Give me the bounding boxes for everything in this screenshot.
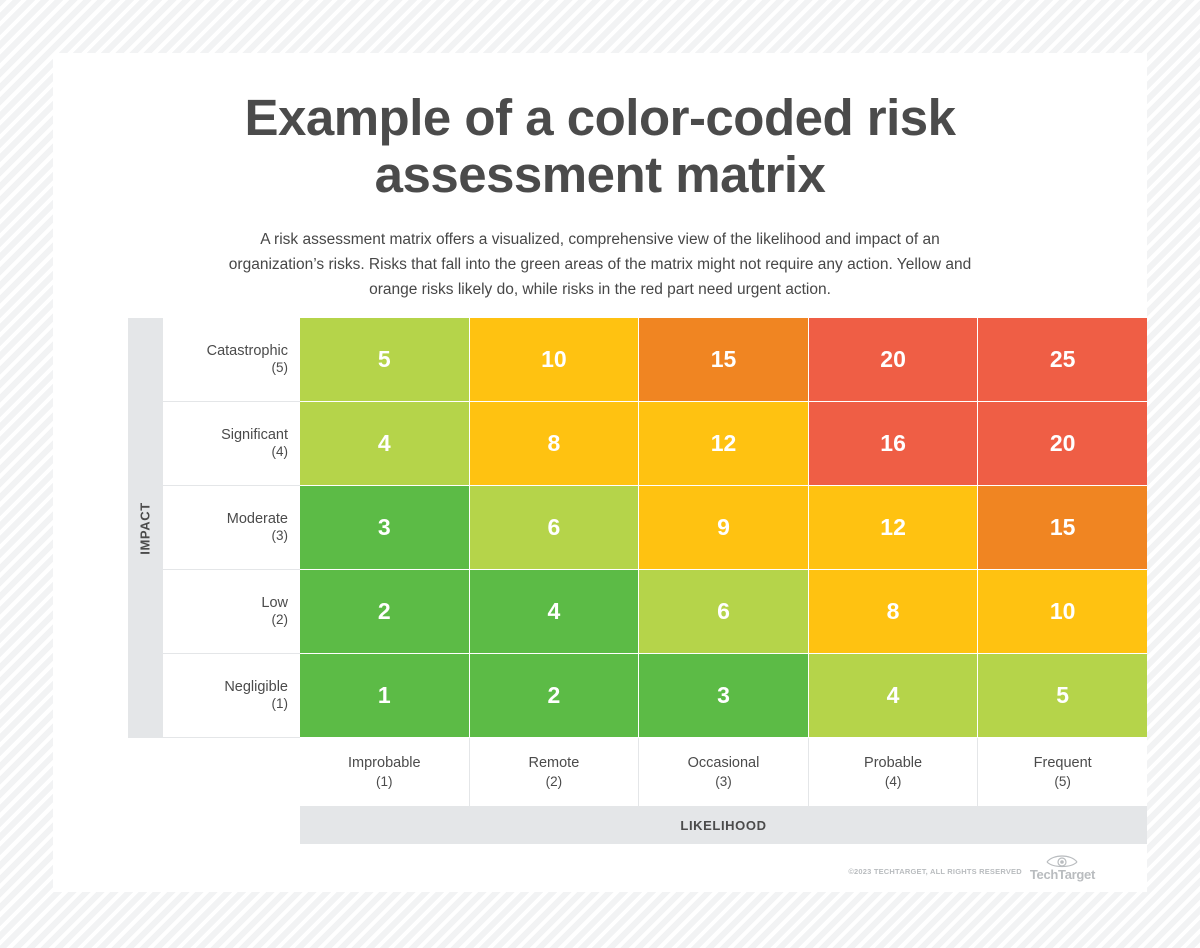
likelihood-header-row: Improbable(1)Remote(2)Occasional(3)Proba… — [128, 738, 1147, 806]
impact-axis-text: IMPACT — [138, 502, 153, 554]
risk-score-cell: 12 — [809, 486, 979, 570]
matrix-row: Moderate(3)3691215 — [163, 486, 1147, 570]
impact-level-number: (1) — [272, 696, 289, 713]
likelihood-level-name: Improbable — [348, 754, 421, 773]
impact-level-label: Significant(4) — [163, 402, 300, 486]
impact-level-name: Catastrophic — [207, 342, 288, 360]
risk-score-cell: 4 — [300, 402, 470, 486]
impact-level-number: (5) — [272, 360, 289, 377]
risk-score-cell: 20 — [809, 318, 979, 402]
risk-score-cell: 4 — [809, 654, 979, 738]
risk-score-cell: 8 — [470, 402, 640, 486]
impact-level-name: Low — [261, 594, 288, 612]
impact-level-label: Low(2) — [163, 570, 300, 654]
impact-level-name: Moderate — [227, 510, 288, 528]
risk-matrix: IMPACT Catastrophic(5)510152025Significa… — [128, 318, 1147, 844]
likelihood-level-header: Occasional(3) — [639, 738, 809, 806]
likelihood-axis-label: LIKELIHOOD — [300, 806, 1147, 844]
risk-score-cell: 20 — [978, 402, 1147, 486]
matrix-row: Negligible(1)12345 — [163, 654, 1147, 738]
likelihood-level-name: Probable — [864, 754, 922, 773]
impact-level-label: Moderate(3) — [163, 486, 300, 570]
risk-score-cell: 10 — [470, 318, 640, 402]
page-subtitle: A risk assessment matrix offers a visual… — [220, 227, 980, 302]
likelihood-level-name: Occasional — [688, 754, 760, 773]
impact-level-name: Significant — [221, 426, 288, 444]
matrix-row: Catastrophic(5)510152025 — [163, 318, 1147, 402]
risk-score-cell: 3 — [300, 486, 470, 570]
likelihood-level-header: Remote(2) — [470, 738, 640, 806]
copyright-text: ©2023 TECHTARGET, ALL RIGHTS RESERVED — [848, 867, 1022, 882]
likelihood-level-header: Frequent(5) — [978, 738, 1147, 806]
risk-score-cell: 10 — [978, 570, 1147, 654]
grid-corner-spacer — [128, 738, 300, 806]
risk-score-cell: 8 — [809, 570, 979, 654]
likelihood-axis-spacer — [128, 806, 300, 844]
matrix-grid: Catastrophic(5)510152025Significant(4)48… — [163, 318, 1147, 738]
likelihood-level-header: Improbable(1) — [300, 738, 470, 806]
matrix-row: Significant(4)48121620 — [163, 402, 1147, 486]
risk-score-cell: 6 — [639, 570, 809, 654]
likelihood-level-header: Probable(4) — [809, 738, 979, 806]
risk-score-cell: 4 — [470, 570, 640, 654]
infographic-card: Example of a color-coded risk assessment… — [53, 53, 1147, 892]
risk-score-cell: 25 — [978, 318, 1147, 402]
risk-score-cell: 5 — [300, 318, 470, 402]
risk-score-cell: 3 — [639, 654, 809, 738]
risk-score-cell: 9 — [639, 486, 809, 570]
likelihood-level-number: (5) — [1054, 773, 1071, 791]
risk-score-cell: 1 — [300, 654, 470, 738]
risk-score-cell: 5 — [978, 654, 1147, 738]
techtarget-logo: TechTarget — [1030, 853, 1095, 882]
likelihood-level-name: Remote — [529, 754, 580, 773]
matrix-row: Low(2)246810 — [163, 570, 1147, 654]
impact-level-label: Catastrophic(5) — [163, 318, 300, 402]
risk-score-cell: 12 — [639, 402, 809, 486]
header: Example of a color-coded risk assessment… — [53, 53, 1147, 303]
risk-score-cell: 16 — [809, 402, 979, 486]
page-title: Example of a color-coded risk assessment… — [230, 89, 970, 203]
matrix-body: IMPACT Catastrophic(5)510152025Significa… — [128, 318, 1147, 738]
risk-score-cell: 2 — [470, 654, 640, 738]
impact-level-number: (2) — [272, 612, 289, 629]
risk-score-cell: 15 — [639, 318, 809, 402]
impact-axis-label: IMPACT — [128, 318, 163, 738]
impact-level-number: (3) — [272, 528, 289, 545]
likelihood-level-number: (2) — [546, 773, 563, 791]
impact-level-label: Negligible(1) — [163, 654, 300, 738]
likelihood-level-number: (3) — [715, 773, 732, 791]
techtarget-wordmark: TechTarget — [1030, 867, 1095, 882]
likelihood-level-number: (1) — [376, 773, 393, 791]
risk-score-cell: 2 — [300, 570, 470, 654]
risk-score-cell: 6 — [470, 486, 640, 570]
footer: ©2023 TECHTARGET, ALL RIGHTS RESERVED Te… — [848, 853, 1095, 882]
likelihood-level-name: Frequent — [1034, 754, 1092, 773]
risk-score-cell: 15 — [978, 486, 1147, 570]
impact-level-name: Negligible — [224, 678, 288, 696]
likelihood-axis-row: LIKELIHOOD — [128, 806, 1147, 844]
likelihood-level-number: (4) — [885, 773, 902, 791]
impact-level-number: (4) — [272, 444, 289, 461]
